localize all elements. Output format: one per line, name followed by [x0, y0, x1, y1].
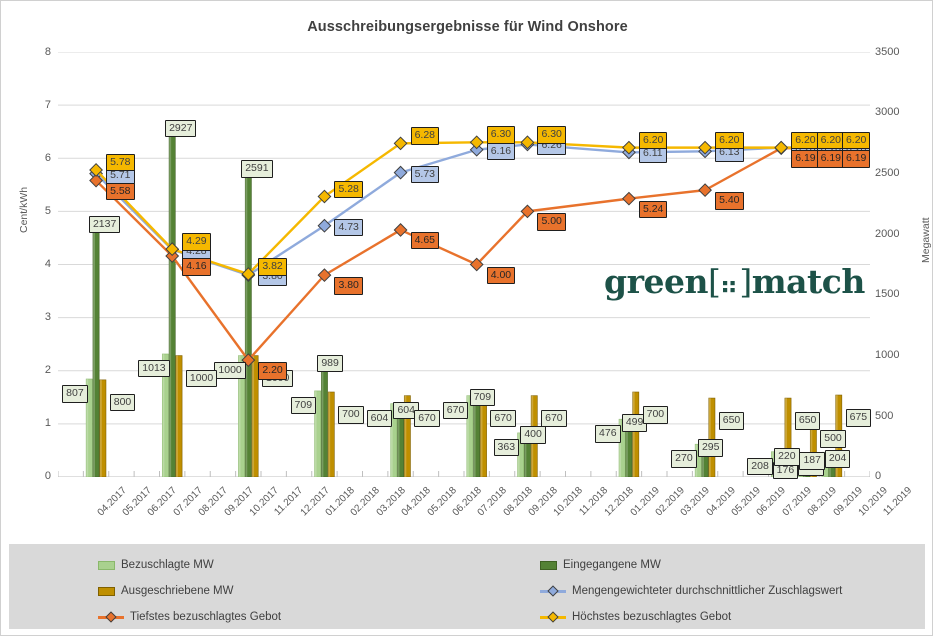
line-label-tiefstes: 2.20 — [258, 362, 286, 380]
bar-highlight — [176, 356, 178, 477]
logo-dots-icon — [721, 268, 738, 301]
y-tick-left-6: 6 — [21, 152, 51, 164]
legend-swatch-icon — [98, 561, 115, 570]
bar-highlight — [252, 356, 254, 477]
line-label-tiefstes: 4.16 — [182, 258, 210, 276]
line-label-hoechstes: 6.28 — [411, 127, 439, 145]
legend-line-marker-icon — [540, 611, 566, 623]
line-label-zuschlagswert: 5.73 — [411, 166, 439, 184]
bar-highlight — [245, 162, 247, 477]
y-tick-right-3000: 3000 — [875, 106, 915, 118]
line-label-tiefstes: 5.40 — [715, 192, 743, 210]
bar-label-eingegangene: 709 — [470, 389, 496, 407]
y-tick-right-500: 500 — [875, 410, 915, 422]
legend-item-zuschlagswert[interactable]: Mengengewichteter durchschnittlicher Zus… — [540, 585, 842, 597]
bar-highlight — [169, 122, 171, 477]
y-tick-left-3: 3 — [21, 311, 51, 323]
bar-highlight — [328, 392, 330, 477]
legend-label: Tiefstes bezuschlagtes Gebot — [130, 611, 281, 623]
legend-label: Ausgeschriebene MW — [121, 585, 234, 597]
legend-item-tiefstes[interactable]: Tiefstes bezuschlagtes Gebot — [98, 611, 281, 623]
y-tick-left-0: 0 — [21, 470, 51, 482]
line-label-hoechstes: 6.20 — [817, 132, 845, 150]
legend-swatch-icon — [98, 587, 115, 596]
y-tick-left-5: 5 — [21, 205, 51, 217]
legend-line-marker-icon — [540, 585, 566, 597]
legend-item-hoechstes[interactable]: Höchstes bezuschlagtes Gebot — [540, 611, 731, 623]
bar-label-ausgeschriebene: 1000 — [186, 370, 217, 388]
legend-item-bezuschlagte[interactable]: Bezuschlagte MW — [98, 559, 214, 571]
y-tick-right-2500: 2500 — [875, 167, 915, 179]
bar-label-eingegangene: 989 — [317, 355, 343, 373]
y-tick-right-3500: 3500 — [875, 46, 915, 58]
line-label-tiefstes: 6.19 — [817, 150, 845, 168]
legend-item-eingegangene[interactable]: Eingegangene MW — [540, 559, 661, 571]
series-marker — [394, 224, 406, 236]
bar-label-eingegangene: 2591 — [241, 160, 272, 178]
line-label-hoechstes: 5.28 — [334, 181, 362, 199]
y-tick-right-2000: 2000 — [875, 228, 915, 240]
y-tick-right-1000: 1000 — [875, 349, 915, 361]
chart-canvas: Ausschreibungsergebnisse für Wind Onshor… — [1, 1, 933, 541]
chart-page: Ausschreibungsergebnisse für Wind Onshor… — [0, 0, 933, 636]
line-label-tiefstes: 4.00 — [487, 267, 515, 285]
line-label-hoechstes: 6.30 — [537, 126, 565, 144]
y-tick-left-2: 2 — [21, 364, 51, 376]
line-label-hoechstes: 4.29 — [182, 233, 210, 251]
line-label-hoechstes: 6.20 — [639, 132, 667, 150]
logo-bracket-open: [ — [708, 262, 720, 301]
bar-highlight — [321, 357, 323, 477]
logo-text-2: match — [752, 262, 865, 301]
legend-label: Eingegangene MW — [563, 559, 661, 571]
line-label-tiefstes: 5.00 — [537, 213, 565, 231]
bar-label-ausgeschriebene: 700 — [338, 406, 364, 424]
legend-item-ausgeschriebene[interactable]: Ausgeschriebene MW — [98, 585, 234, 597]
bar-label-eingegangene: 2137 — [89, 216, 120, 234]
bar-label-eingegangene: 187 — [799, 452, 825, 470]
chart-title: Ausschreibungsergebnisse für Wind Onshor… — [1, 19, 933, 35]
legend-swatch-icon — [540, 561, 557, 570]
y-tick-left-7: 7 — [21, 99, 51, 111]
logo-bracket-close: ] — [739, 262, 751, 301]
chart-legend: Bezuschlagte MWEingegangene MWAusgeschri… — [9, 544, 925, 629]
bar-highlight — [100, 380, 102, 477]
bar-label-bezuschlagte: 208 — [747, 458, 773, 476]
bar-label-ausgeschriebene: 650 — [795, 412, 821, 430]
bar-highlight — [709, 398, 711, 477]
y-axis-label-right: Megawatt — [920, 217, 932, 263]
bar-label-ausgeschriebene: 670 — [490, 410, 516, 428]
legend-label: Mengengewichteter durchschnittlicher Zus… — [572, 585, 842, 597]
bar-label-bezuschlagte: 1013 — [138, 360, 169, 378]
bar-label-ausgeschriebene: 675 — [846, 409, 872, 427]
line-label-tiefstes: 5.24 — [639, 201, 667, 219]
y-tick-right-1500: 1500 — [875, 288, 915, 300]
y-tick-left-1: 1 — [21, 417, 51, 429]
line-label-zuschlagswert: 6.16 — [487, 143, 515, 161]
y-tick-left-4: 4 — [21, 258, 51, 270]
line-label-tiefstes: 5.58 — [106, 183, 134, 201]
legend-label: Bezuschlagte MW — [121, 559, 214, 571]
legend-label: Höchstes bezuschlagtes Gebot — [572, 611, 731, 623]
bar-label-bezuschlagte: 363 — [494, 439, 520, 457]
bar-label-bezuschlagte: 670 — [443, 402, 469, 420]
bar-label-ausgeschriebene: 700 — [643, 406, 669, 424]
logo-text-1: green — [604, 262, 708, 301]
bar-label-ausgeschriebene: 670 — [414, 410, 440, 428]
bar-label-bezuschlagte: 807 — [62, 385, 88, 403]
bar-label-bezuschlagte: 270 — [671, 450, 697, 468]
bar-highlight — [633, 392, 635, 477]
bar-label-bezuschlagte: 604 — [367, 410, 393, 428]
bar-label-eingegangene: 204 — [825, 450, 851, 468]
line-label-hoechstes: 6.20 — [791, 132, 819, 150]
bar-label-bezuschlagte: 709 — [291, 397, 317, 415]
line-label-tiefstes: 6.19 — [842, 150, 870, 168]
bar-label-bezuschlagte: 1000 — [214, 362, 245, 380]
bar-label-ausgeschriebene: 800 — [110, 394, 136, 412]
line-label-hoechstes: 6.20 — [842, 132, 870, 150]
line-label-hoechstes: 6.30 — [487, 126, 515, 144]
y-tick-right-0: 0 — [875, 470, 915, 482]
line-label-hoechstes: 5.78 — [106, 154, 134, 172]
line-label-hoechstes: 6.20 — [715, 132, 743, 150]
greenmatch-logo: green[]match — [604, 265, 865, 301]
bar-highlight — [480, 396, 482, 477]
bar-highlight — [93, 218, 95, 477]
y-tick-left-8: 8 — [21, 46, 51, 58]
bar-label-bezuschlagte: 476 — [595, 425, 621, 443]
bar-label-eingegangene: 2927 — [165, 120, 196, 138]
line-label-tiefstes: 3.80 — [334, 277, 362, 295]
bar-label-ausgeschriebene: 500 — [820, 430, 846, 448]
bar-label-eingegangene: 220 — [774, 448, 800, 466]
series-marker — [470, 136, 482, 148]
bar-label-ausgeschriebene: 650 — [719, 412, 745, 430]
line-label-hoechstes: 3.82 — [258, 258, 286, 276]
series-marker — [775, 141, 787, 153]
series-marker — [623, 192, 635, 204]
bar-label-ausgeschriebene: 670 — [541, 410, 567, 428]
line-label-zuschlagswert: 4.73 — [334, 219, 362, 237]
series-marker — [699, 184, 711, 196]
bar-label-eingegangene: 400 — [520, 426, 546, 444]
legend-line-marker-icon — [98, 611, 124, 623]
bar-label-eingegangene: 295 — [698, 439, 724, 457]
line-label-tiefstes: 4.65 — [411, 232, 439, 250]
line-label-tiefstes: 6.19 — [791, 150, 819, 168]
